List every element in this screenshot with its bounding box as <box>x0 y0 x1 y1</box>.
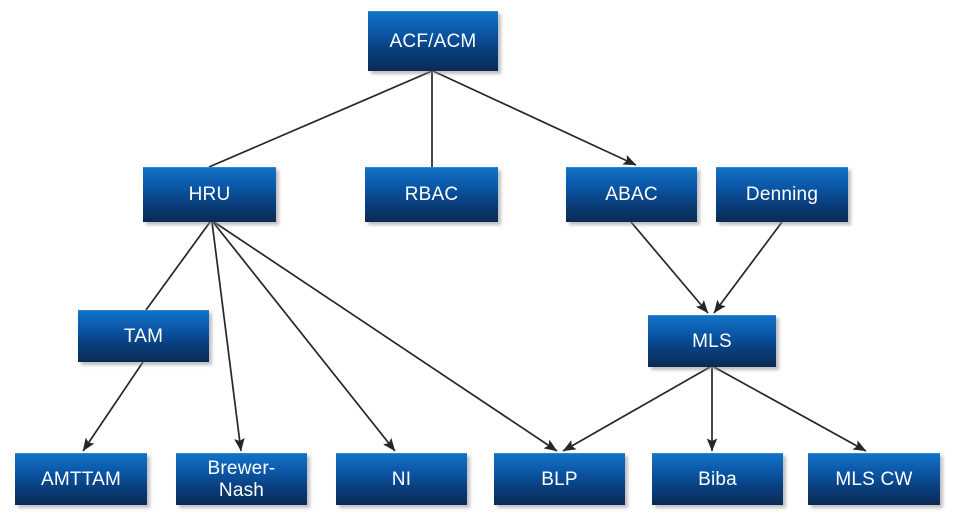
node-rbac[interactable]: RBAC <box>365 167 498 222</box>
node-ni[interactable]: NI <box>336 453 467 505</box>
node-denning[interactable]: Denning <box>716 167 848 222</box>
edge-hru-blp <box>214 222 557 451</box>
node-label: Biba <box>694 469 741 490</box>
edge-hru-brewer <box>212 222 241 451</box>
node-label: ABAC <box>601 184 662 205</box>
edge-hru-tam <box>146 222 210 310</box>
node-label: HRU <box>185 184 235 205</box>
node-label: RBAC <box>401 184 463 205</box>
node-biba[interactable]: Biba <box>652 453 783 505</box>
node-mlscw[interactable]: MLS CW <box>808 453 940 505</box>
diagram-canvas: ACF/ACMHRURBACABACDenningTAMMLSAMTTAMBre… <box>0 0 955 521</box>
node-label: NI <box>388 469 415 490</box>
node-tam[interactable]: TAM <box>78 310 209 362</box>
node-label: TAM <box>120 326 167 347</box>
node-acf_acm[interactable]: ACF/ACM <box>368 11 498 71</box>
edge-mls-mlscw <box>714 367 866 451</box>
edges-group <box>83 71 866 451</box>
node-blp[interactable]: BLP <box>494 453 625 505</box>
node-abac[interactable]: ABAC <box>566 167 697 222</box>
node-mls[interactable]: MLS <box>648 315 776 367</box>
edge-acf-abac <box>433 71 636 165</box>
node-label: Brewer- Nash <box>204 458 280 501</box>
node-label: MLS CW <box>831 469 916 490</box>
edge-abac-mls <box>631 222 708 313</box>
node-hru[interactable]: HRU <box>143 167 276 222</box>
node-brewer[interactable]: Brewer- Nash <box>176 453 307 505</box>
node-label: BLP <box>537 469 582 490</box>
edge-tam-amttam <box>83 362 143 451</box>
node-label: AMTTAM <box>37 469 125 490</box>
node-amttam[interactable]: AMTTAM <box>15 453 147 505</box>
node-label: MLS <box>688 331 736 352</box>
edge-mls-blp <box>563 367 710 451</box>
edge-acf-hru <box>209 71 432 167</box>
node-label: ACF/ACM <box>386 31 481 52</box>
edge-denning-mls <box>714 222 782 313</box>
edge-layer <box>0 0 955 521</box>
node-label: Denning <box>742 184 822 205</box>
edge-hru-ni <box>213 222 395 451</box>
